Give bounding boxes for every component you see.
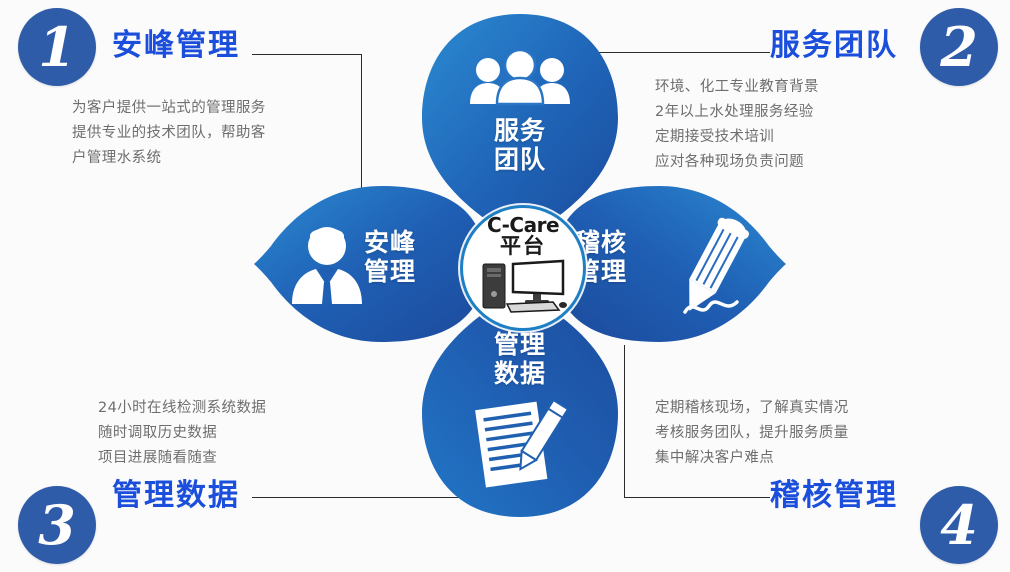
badge-number-4: 4 — [920, 486, 998, 564]
quadrant-2-line-3: 定期接受技术培训 — [655, 125, 819, 150]
petal-left-label: 安峰 管理 — [364, 228, 464, 286]
clipboard-pencil-icon — [472, 396, 572, 488]
petal-right-audit-management[interactable]: 稽核 管理 — [553, 184, 788, 344]
quadrant-2-line-4: 应对各种现场负责问题 — [655, 150, 819, 175]
center-hub[interactable]: C-Care 平台 — [460, 205, 586, 331]
quadrant-title-4: 稽核管理 — [770, 470, 898, 514]
quadrant-3-line-2: 随时调取历史数据 — [98, 421, 266, 446]
petal-top-label-line2: 团队 — [420, 145, 620, 174]
quadrant-1-line-2: 提供专业的技术团队，帮助客 — [72, 121, 266, 146]
hub-title: C-Care — [487, 215, 559, 235]
quadrant-title-2: 服务团队 — [770, 20, 898, 64]
quadrant-body-1: 为客户提供一站式的管理服务 提供专业的技术团队，帮助客 户管理水系统 — [72, 96, 266, 171]
quadrant-body-3: 24小时在线检测系统数据 随时调取历史数据 项目进展随看随查 — [98, 396, 266, 471]
petal-right-label-line2: 管理 — [575, 257, 675, 286]
petal-top-label: 服务 团队 — [420, 116, 620, 174]
desktop-computer-icon — [479, 258, 567, 314]
quadrant-2-line-1: 环境、化工专业教育背景 — [655, 75, 819, 100]
petal-top-label-line1: 服务 — [420, 116, 620, 145]
pencil-icon — [671, 206, 763, 328]
badge-number-2: 2 — [920, 8, 998, 86]
quadrant-1-line-1: 为客户提供一站式的管理服务 — [72, 96, 266, 121]
quadrant-4-line-2: 考核服务团队，提升服务质量 — [655, 421, 849, 446]
quadrant-2-line-2: 2年以上水处理服务经验 — [655, 100, 819, 125]
quadrant-3-line-3: 项目进展随看随查 — [98, 446, 266, 471]
businessman-icon — [288, 224, 366, 304]
quadrant-4-line-1: 定期稽核现场，了解真实情况 — [655, 396, 849, 421]
quadrant-body-4: 定期稽核现场，了解真实情况 考核服务团队，提升服务质量 集中解决客户难点 — [655, 396, 849, 471]
quadrant-body-2: 环境、化工专业教育背景 2年以上水处理服务经验 定期接受技术培训 应对各种现场负… — [655, 75, 819, 175]
petal-left-label-line1: 安峰 — [364, 228, 464, 257]
petal-bottom-label-line2: 数据 — [420, 359, 620, 388]
quadrant-1-line-3: 户管理水系统 — [72, 146, 266, 171]
quadrant-title-1: 安峰管理 — [112, 20, 240, 64]
hub-subtitle: 平台 — [500, 236, 546, 257]
infographic-canvas: 服务 团队 管理 数据 — [0, 0, 1010, 572]
badge-number-1: 1 — [18, 8, 96, 86]
petal-left-label-line2: 管理 — [364, 257, 464, 286]
petal-right-label-line1: 稽核 — [575, 228, 675, 257]
quadrant-4-line-3: 集中解决客户难点 — [655, 446, 849, 471]
badge-number-3: 3 — [18, 486, 96, 564]
petal-left-anfeng-management[interactable]: 安峰 管理 — [252, 184, 487, 344]
quadrant-title-3: 管理数据 — [112, 470, 240, 514]
petal-right-label: 稽核 管理 — [575, 228, 675, 286]
quadrant-3-line-1: 24小时在线检测系统数据 — [98, 396, 266, 421]
three-people-icon — [468, 52, 572, 104]
